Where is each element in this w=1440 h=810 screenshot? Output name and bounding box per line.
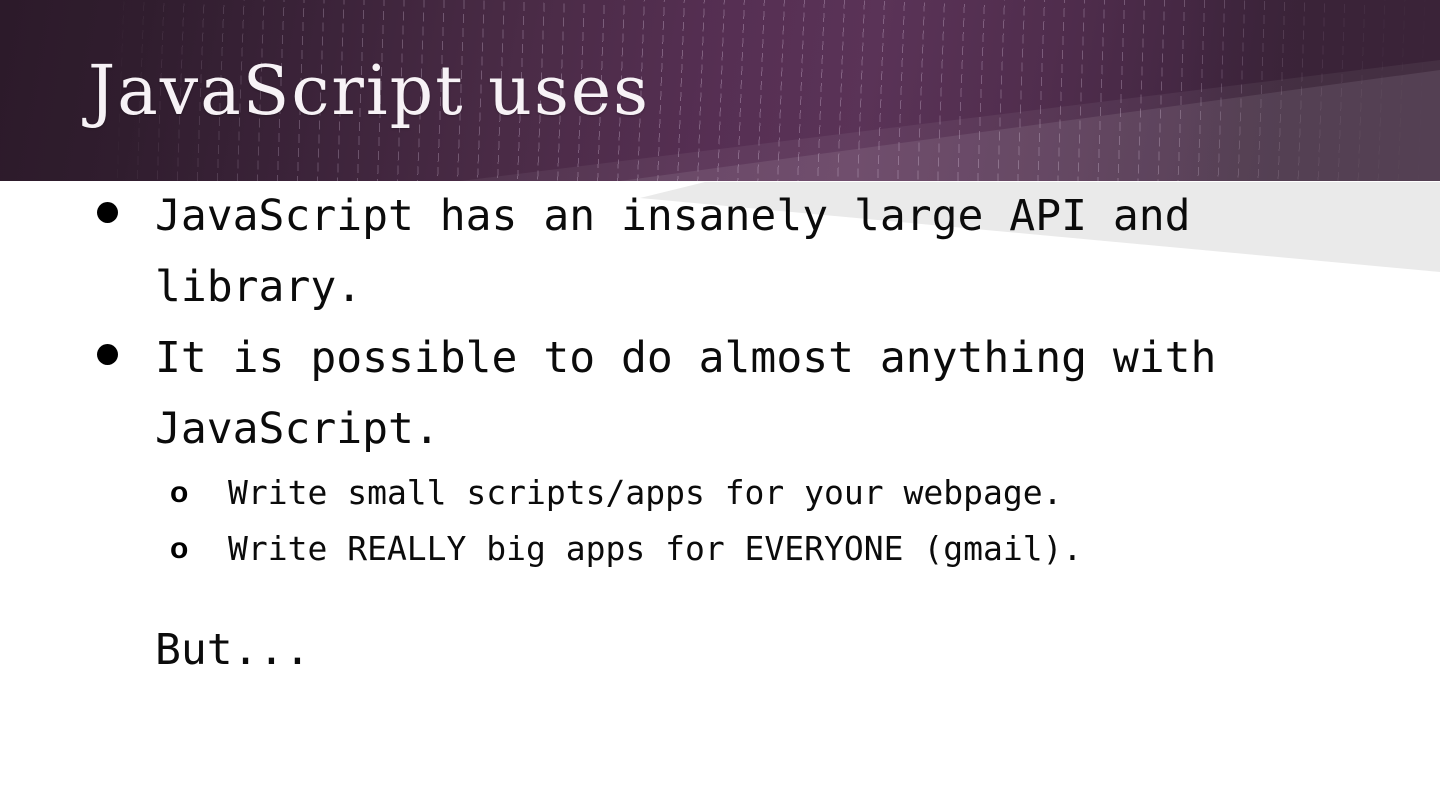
list-item: It is possible to do almost anything wit…	[0, 323, 1440, 465]
page-title: JavaScript uses	[88, 50, 1188, 134]
body-spacer	[0, 577, 1440, 619]
bullet-disc-icon	[97, 344, 118, 365]
bullet-disc-icon	[97, 202, 118, 223]
slide-header-band: JavaScript uses	[0, 0, 1440, 181]
sub-list-item: o Write REALLY big apps for EVERYONE (gm…	[0, 521, 1440, 577]
bullet-text: JavaScript has an insanely large API and…	[155, 181, 1340, 323]
sub-bullet-text: Write small scripts/apps for your webpag…	[228, 473, 1062, 512]
sub-list-item: o Write small scripts/apps for your webp…	[0, 465, 1440, 521]
list-item: JavaScript has an insanely large API and…	[0, 181, 1440, 323]
slide: JavaScript uses JavaScript has an insane…	[0, 0, 1440, 810]
bullet-circle-icon: o	[170, 465, 188, 521]
closing-line: But...	[0, 619, 1440, 681]
bullet-text: It is possible to do almost anything wit…	[155, 323, 1340, 465]
slide-body: JavaScript has an insanely large API and…	[0, 181, 1440, 810]
sub-bullet-text: Write REALLY big apps for EVERYONE (gmai…	[228, 529, 1082, 568]
bullet-circle-icon: o	[170, 521, 188, 577]
